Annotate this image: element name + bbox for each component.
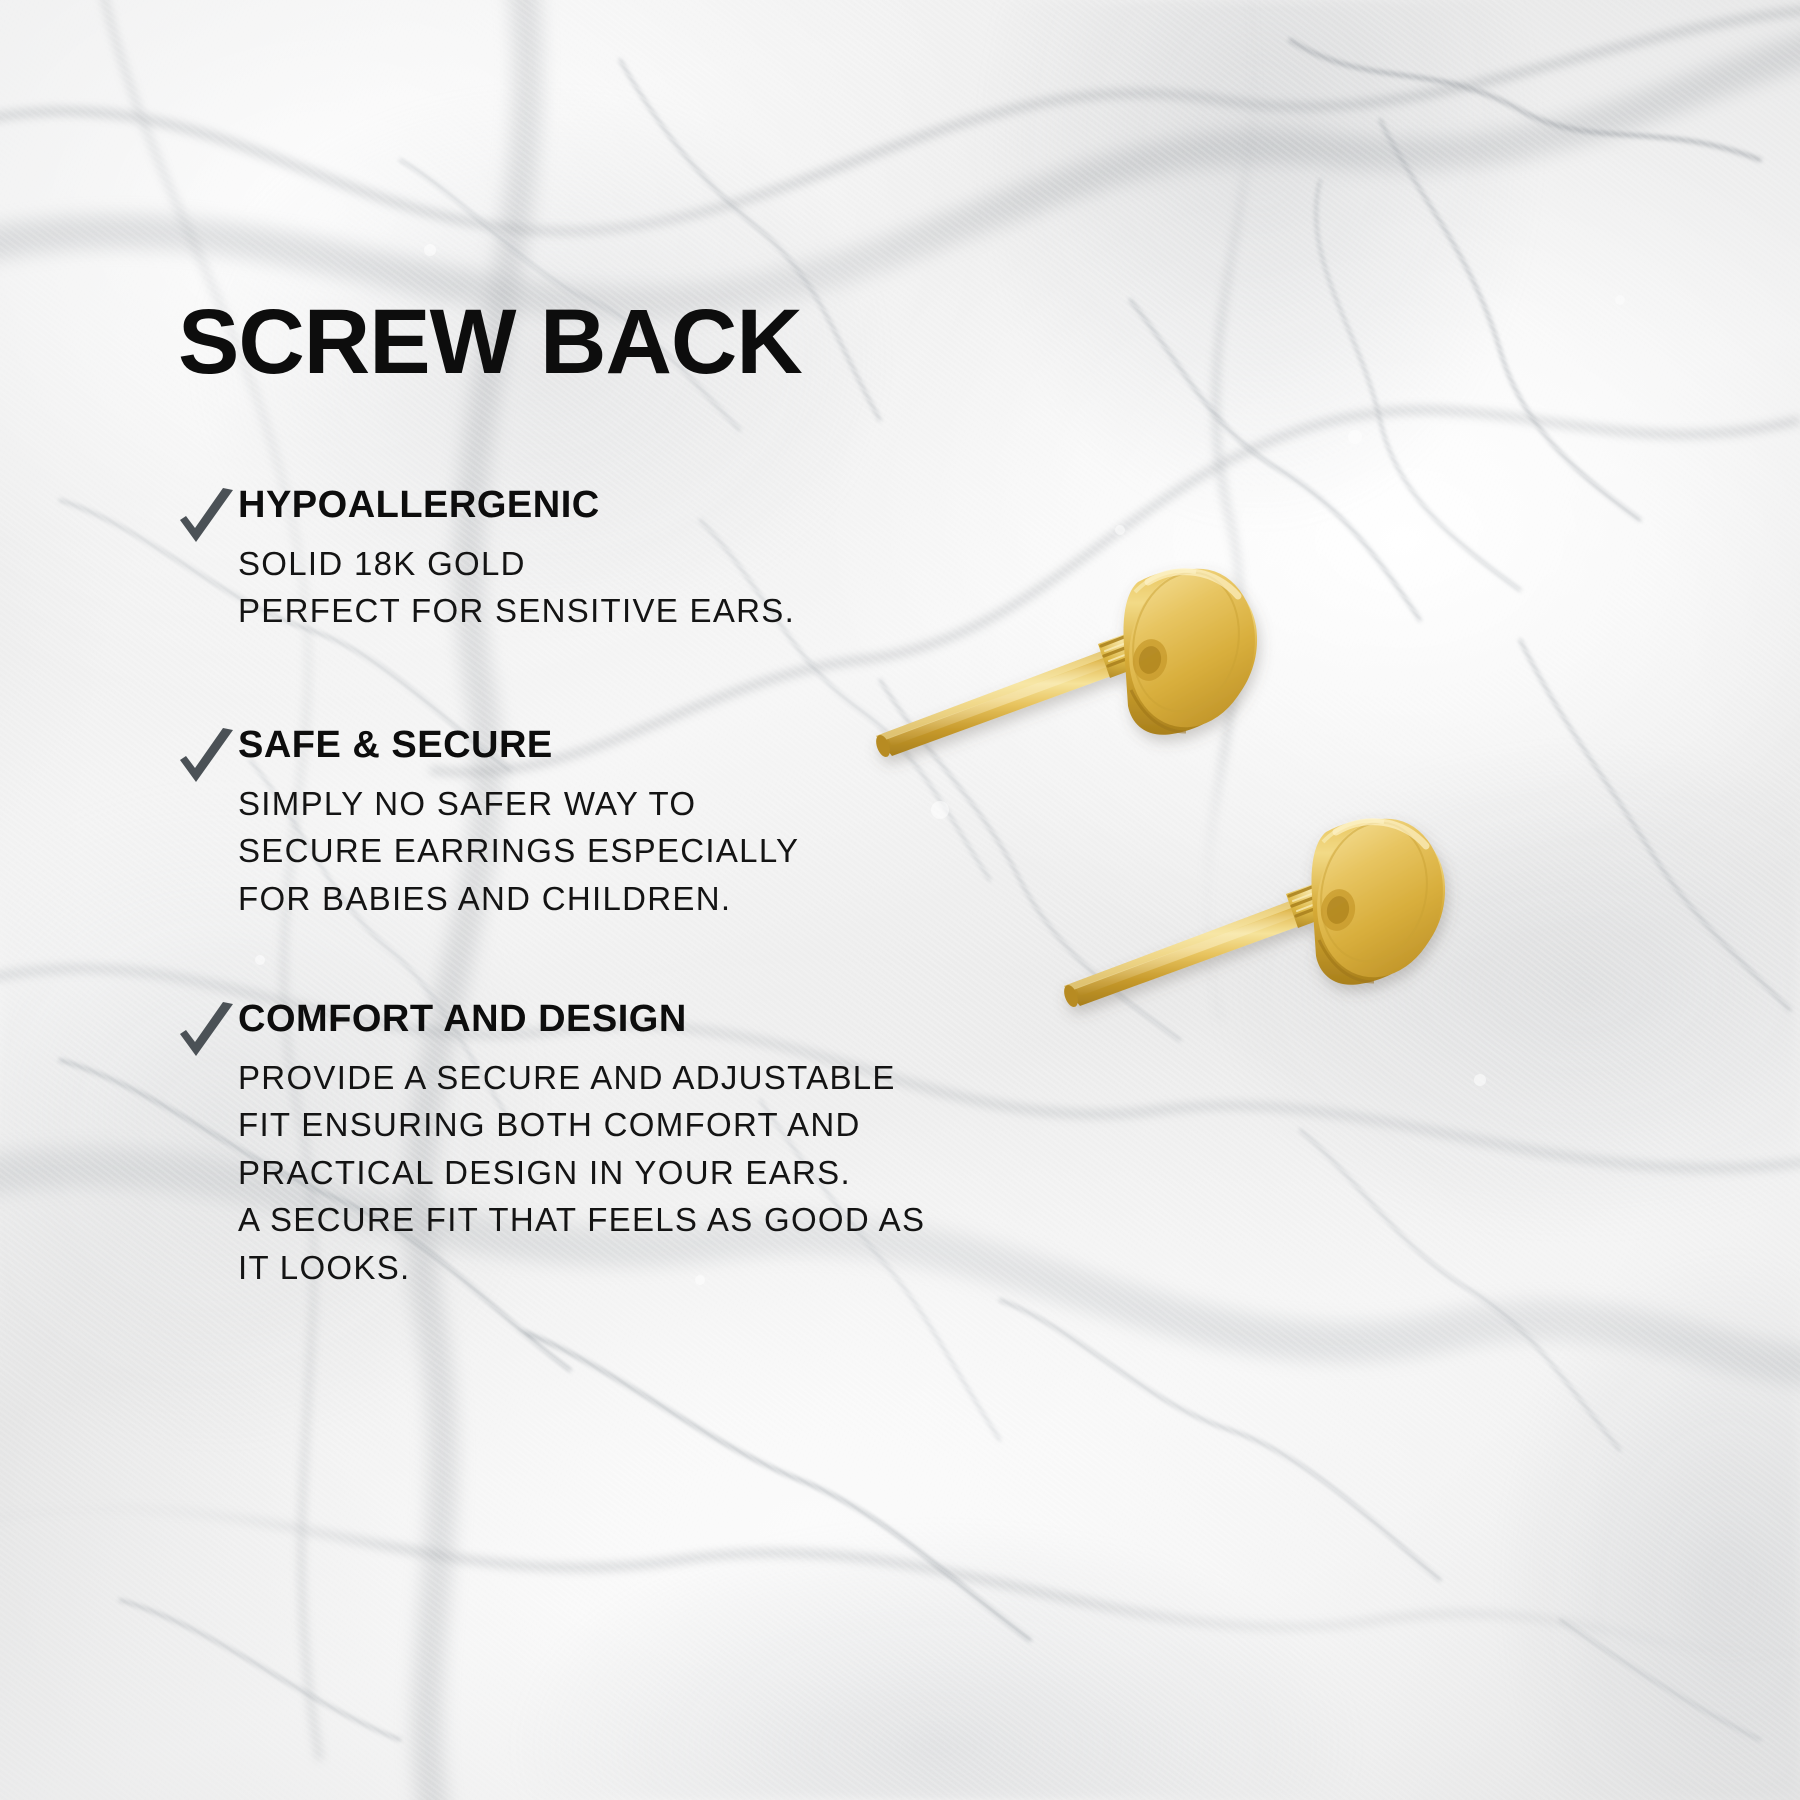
gold-screw-back-earring-top (852, 520, 1292, 810)
page-title: SCREW BACK (178, 296, 802, 388)
feature-heading: HYPOALLERGENIC (238, 486, 795, 526)
check-icon (176, 726, 238, 792)
content-layer: SCREW BACK HYPOALLERGENIC SOLID 18K GOLD… (0, 0, 1800, 1800)
feature-body: SOLID 18K GOLD PERFECT FOR SENSITIVE EAR… (238, 540, 795, 635)
feature-body: SIMPLY NO SAFER WAY TO SECURE EARRINGS E… (238, 780, 799, 923)
feature-block-comfort-and-design: COMFORT AND DESIGN PROVIDE A SECURE AND … (176, 1000, 925, 1291)
feature-block-safe-and-secure: SAFE & SECURE SIMPLY NO SAFER WAY TO SEC… (176, 726, 799, 922)
marble-backdrop: SCREW BACK HYPOALLERGENIC SOLID 18K GOLD… (0, 0, 1800, 1800)
gold-screw-back-earring-bottom (1040, 770, 1480, 1060)
check-icon (176, 486, 238, 552)
feature-heading: COMFORT AND DESIGN (238, 1000, 925, 1040)
feature-block-hypoallergenic: HYPOALLERGENIC SOLID 18K GOLD PERFECT FO… (176, 486, 795, 635)
feature-body: PROVIDE A SECURE AND ADJUSTABLE FIT ENSU… (238, 1054, 925, 1292)
feature-heading: SAFE & SECURE (238, 726, 799, 766)
check-icon (176, 1000, 238, 1066)
